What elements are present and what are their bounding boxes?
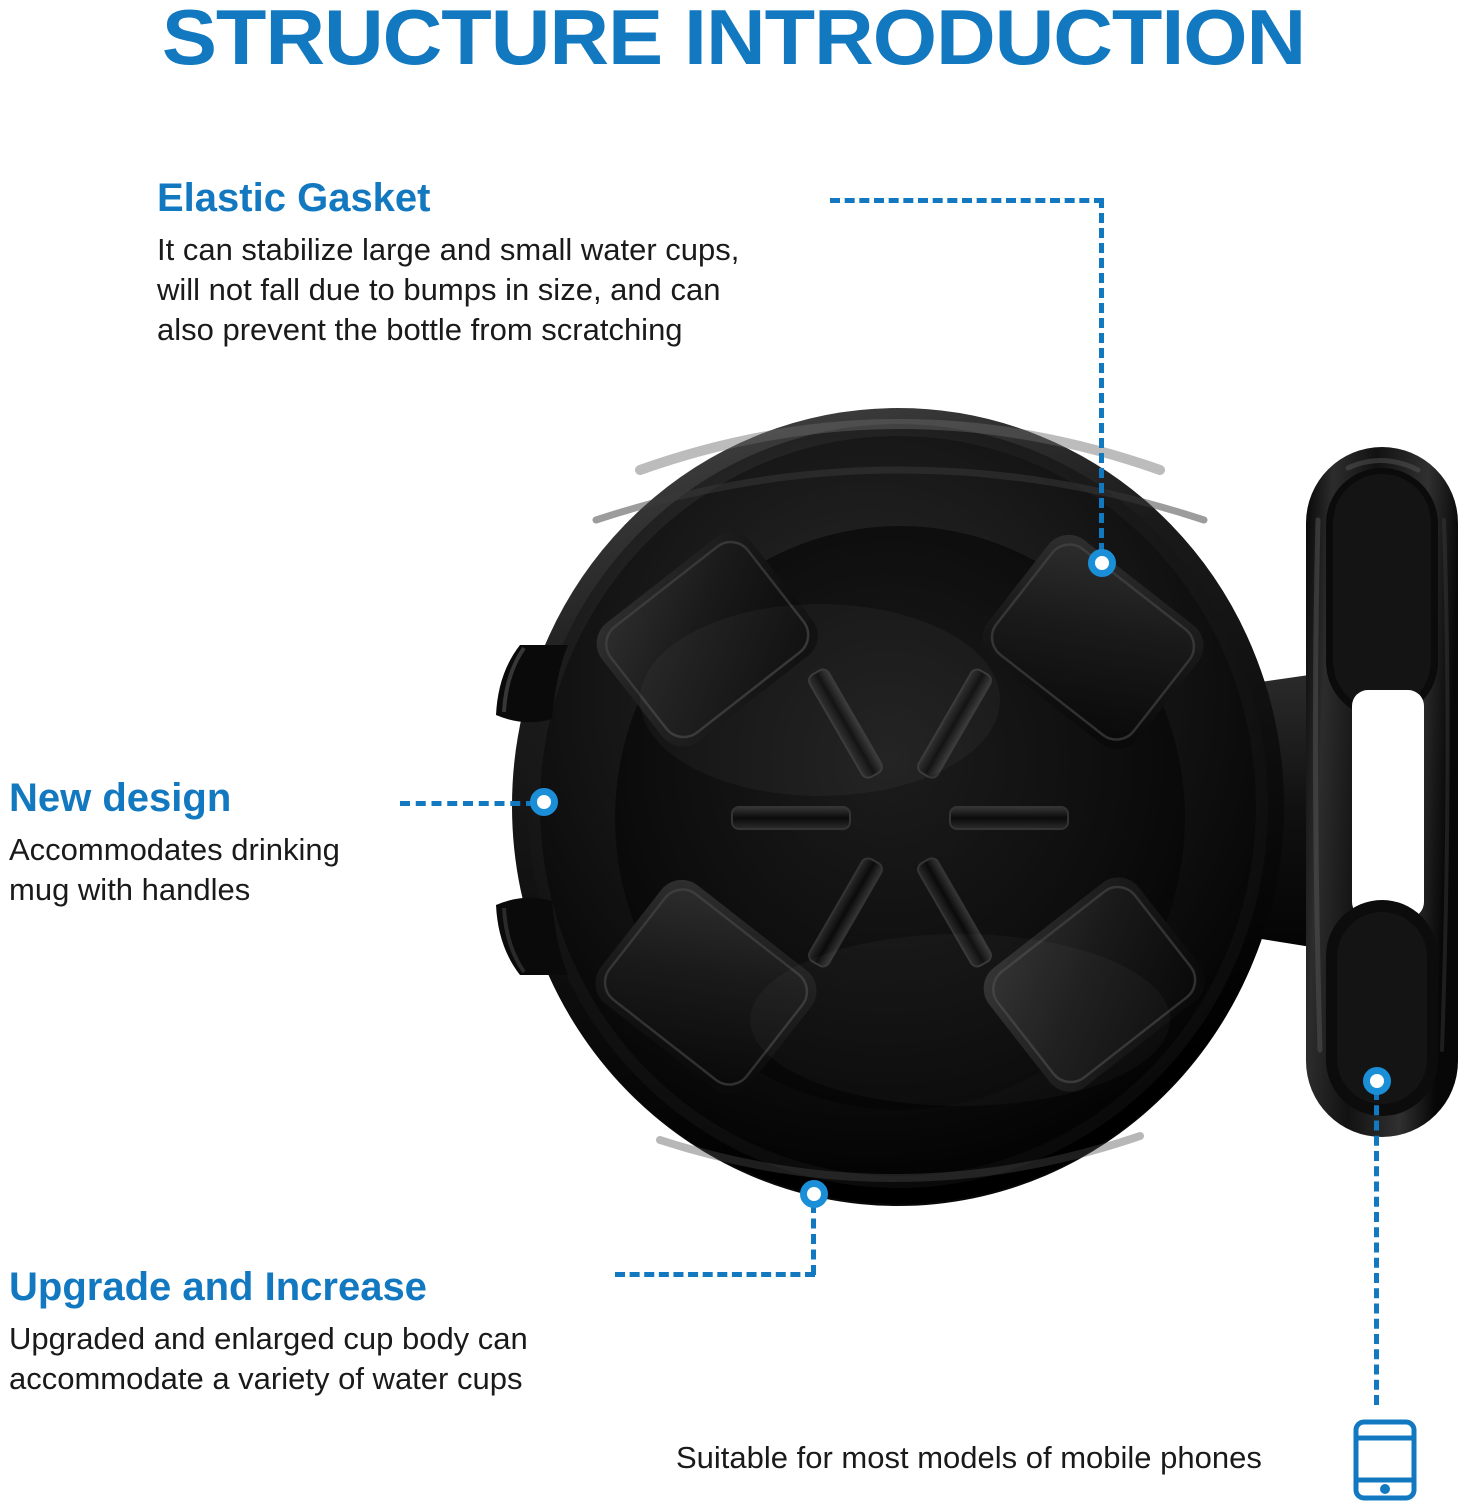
callout-heading-upgrade-and-increase: Upgrade and Increase bbox=[9, 1265, 528, 1310]
marker-upgrade bbox=[800, 1180, 828, 1208]
callout-body-line: It can stabilize large and small water c… bbox=[157, 230, 739, 270]
leader-line-upgrade-vertical bbox=[811, 1203, 816, 1275]
callout-body-new-design: Accommodates drinking mug with handles bbox=[9, 830, 340, 911]
callout-heading-elastic-gasket: Elastic Gasket bbox=[157, 176, 739, 221]
callout-elastic-gasket: Elastic Gasket It can stabilize large an… bbox=[157, 176, 739, 351]
page-title: STRUCTURE INTRODUCTION bbox=[0, 0, 1467, 76]
leader-line-new-design bbox=[400, 801, 536, 806]
callout-body-line: Upgraded and enlarged cup body can bbox=[9, 1319, 528, 1359]
callout-body-line: also prevent the bottle from scratching bbox=[157, 310, 739, 350]
mobile-phone-icon bbox=[1352, 1419, 1418, 1501]
marker-phone-clip bbox=[1363, 1067, 1391, 1095]
callout-body-line: will not fall due to bumps in size, and … bbox=[157, 270, 739, 310]
leader-line-phone-vertical bbox=[1374, 1090, 1379, 1405]
marker-elastic-gasket bbox=[1088, 549, 1116, 577]
callout-body-line: Accommodates drinking bbox=[9, 830, 340, 870]
leader-line-upgrade-horizontal bbox=[615, 1272, 815, 1277]
callout-body-line: mug with handles bbox=[9, 870, 340, 910]
marker-new-design bbox=[530, 788, 558, 816]
callout-body-elastic-gasket: It can stabilize large and small water c… bbox=[157, 230, 739, 351]
callout-body-upgrade-and-increase: Upgraded and enlarged cup body can accom… bbox=[9, 1319, 528, 1400]
callout-new-design: New design Accommodates drinking mug wit… bbox=[9, 776, 340, 910]
callout-heading-new-design: New design bbox=[9, 776, 340, 821]
leader-line-elastic-gasket-vertical bbox=[1099, 198, 1104, 553]
leader-line-elastic-gasket-horizontal bbox=[830, 198, 1104, 203]
callout-upgrade-and-increase: Upgrade and Increase Upgraded and enlarg… bbox=[9, 1265, 528, 1399]
callout-body-line: accommodate a variety of water cups bbox=[9, 1359, 528, 1399]
footer-note-text: Suitable for most models of mobile phone… bbox=[676, 1440, 1262, 1476]
infographic-canvas: STRUCTURE INTRODUCTION Elastic Gasket It… bbox=[0, 0, 1467, 1500]
